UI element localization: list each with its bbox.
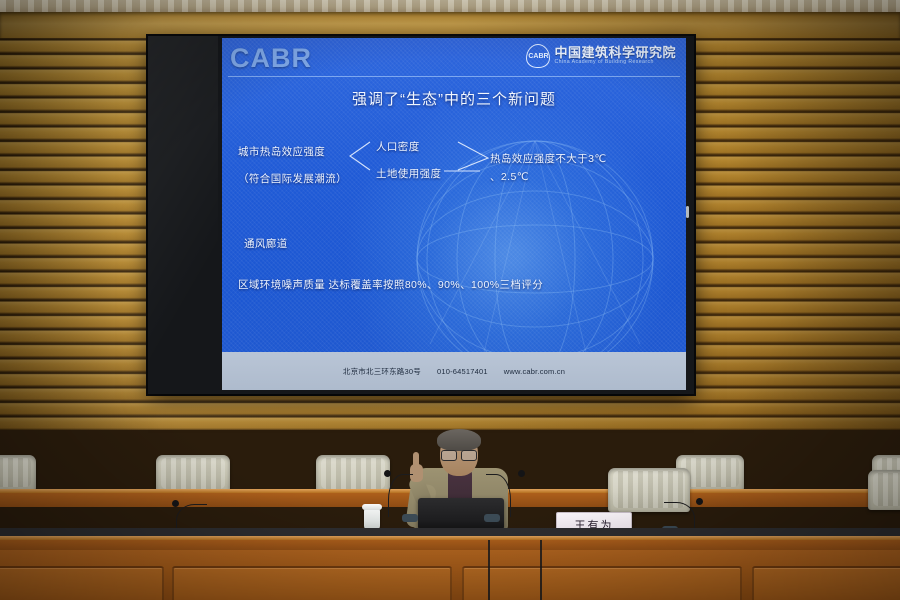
microphone-stem bbox=[388, 474, 413, 517]
podium-panel bbox=[0, 566, 164, 600]
microphone-base bbox=[402, 514, 418, 522]
chair[interactable] bbox=[868, 470, 900, 510]
slide-item-heat-island-note: （符合国际发展潮流） bbox=[238, 171, 347, 186]
microphone-stem bbox=[664, 502, 695, 529]
glasses-right-lens bbox=[461, 450, 477, 461]
microphone-stem bbox=[486, 474, 511, 517]
cabr-logo: CABR 中国建筑科学研究院 China Academy of Building… bbox=[526, 44, 676, 68]
slide-footer: 北京市北三环东路30号 010-64517401 www.cabr.com.cn bbox=[222, 352, 686, 390]
slide-item-population: 人口密度 bbox=[376, 139, 420, 154]
tea-cup-lid bbox=[362, 504, 382, 510]
slide-item-threshold: 热岛效应强度不大于3℃ bbox=[490, 151, 607, 166]
cabr-emblem-icon: CABR bbox=[526, 44, 550, 68]
footer-address: 北京市北三环东路30号 bbox=[343, 366, 421, 377]
cable bbox=[488, 540, 490, 600]
podium-panel bbox=[462, 566, 742, 600]
podium-panel bbox=[172, 566, 452, 600]
podium-panel bbox=[752, 566, 900, 600]
footer-website: www.cabr.com.cn bbox=[504, 367, 565, 376]
microphone[interactable] bbox=[384, 470, 420, 522]
microphone-stem bbox=[176, 504, 207, 531]
cabr-wordmark: CABR bbox=[230, 43, 312, 74]
logo-chinese-name: 中国建筑科学研究院 bbox=[554, 46, 676, 59]
glasses-left-lens bbox=[441, 450, 457, 461]
microphone-base bbox=[484, 514, 500, 522]
screen-glare bbox=[148, 36, 218, 394]
header-divider bbox=[228, 76, 680, 77]
slide-item-noise: 区域环境噪声质量 达标覆盖率按照80%、90%、100%三档评分 bbox=[238, 277, 543, 292]
chair[interactable] bbox=[156, 455, 230, 493]
slide-item-heat-island: 城市热岛效应强度 bbox=[238, 144, 325, 159]
projection-screen[interactable]: CABR CABR 中国建筑科学研究院 China Academy of Bui… bbox=[148, 36, 694, 394]
microphone-head bbox=[172, 500, 179, 507]
speaker-hair bbox=[437, 429, 481, 451]
screen-indicator-icon bbox=[686, 206, 689, 218]
podium-front bbox=[0, 550, 900, 600]
microphone[interactable] bbox=[482, 470, 518, 522]
chair[interactable] bbox=[0, 455, 36, 491]
speaker-pointing-finger bbox=[413, 452, 419, 468]
front-desk-edge bbox=[0, 536, 900, 540]
glasses-icon bbox=[441, 450, 477, 459]
slide-item-threshold-2: 、2.5℃ bbox=[490, 169, 529, 184]
microphone-head bbox=[518, 470, 525, 477]
presentation-slide: CABR CABR 中国建筑科学研究院 China Academy of Bui… bbox=[222, 38, 686, 390]
cabr-emblem-label: CABR bbox=[528, 53, 548, 60]
footer-phone: 010-64517401 bbox=[437, 367, 488, 376]
slide-title: 强调了“生态”中的三个新问题 bbox=[222, 88, 686, 109]
globe-graphic bbox=[410, 134, 660, 384]
conference-hall-scene: CABR CABR 中国建筑科学研究院 China Academy of Bui… bbox=[0, 0, 900, 600]
microphone-head bbox=[696, 498, 703, 505]
chair[interactable] bbox=[316, 455, 390, 493]
tea-cup[interactable] bbox=[364, 508, 380, 530]
slide-item-land-use: 土地使用强度 bbox=[376, 166, 441, 181]
slide-item-ventilation: 通风廊道 bbox=[244, 236, 288, 251]
cable bbox=[540, 540, 542, 600]
slide-header: CABR CABR 中国建筑科学研究院 China Academy of Bui… bbox=[222, 38, 686, 76]
microphone-head bbox=[384, 470, 391, 477]
